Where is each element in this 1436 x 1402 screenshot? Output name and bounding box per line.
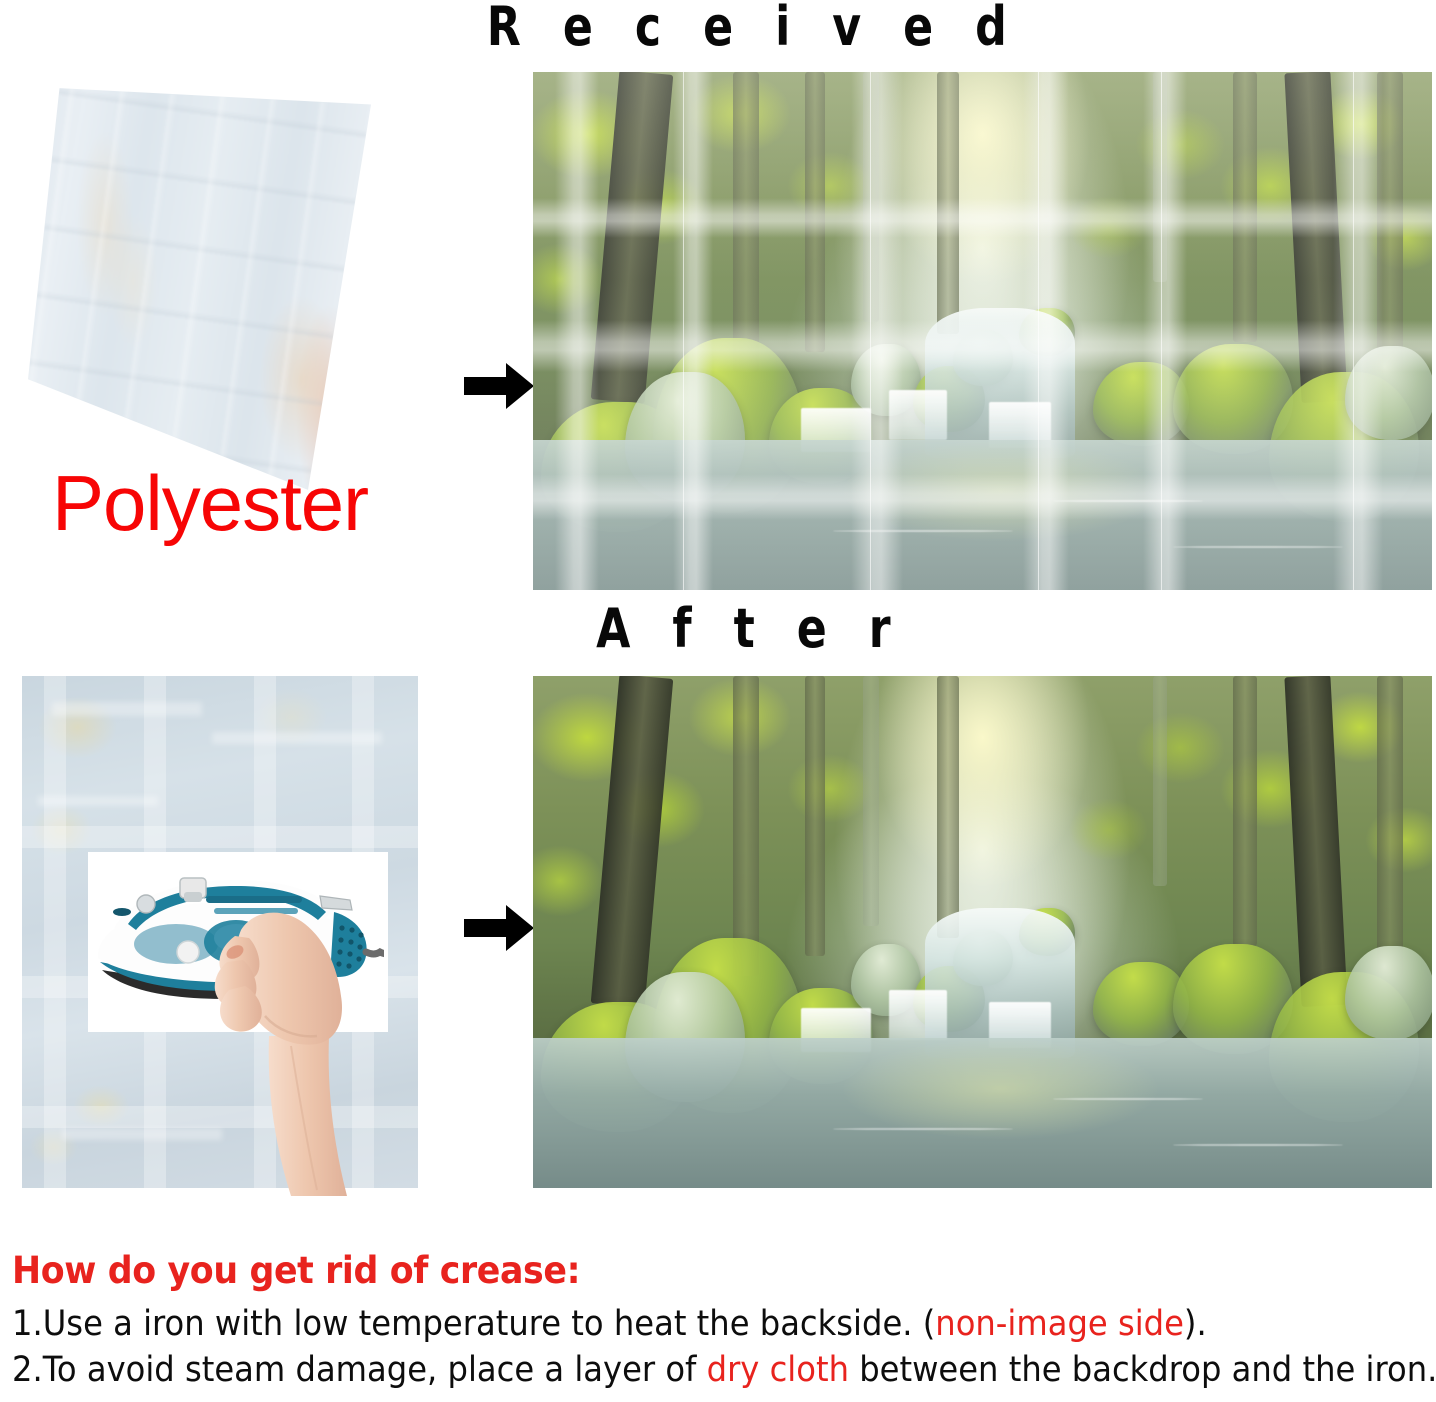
tree-trunk xyxy=(733,676,759,976)
mossy-rock xyxy=(1345,346,1432,440)
tree-trunk xyxy=(805,72,825,352)
tree-trunk xyxy=(937,72,959,334)
instructions-block: How do you get rid of crease: 1.Use a ir… xyxy=(8,1248,1432,1394)
tree-trunk xyxy=(1377,72,1403,372)
water-ripple xyxy=(1053,500,1203,502)
instruction-line-1: 1.Use a iron with low temperature to hea… xyxy=(12,1302,1318,1347)
waterfall xyxy=(889,390,947,440)
tree-trunk xyxy=(863,72,879,322)
instruction-2-prefix: 2.To avoid steam damage, place a layer o… xyxy=(12,1350,707,1390)
tree-trunk xyxy=(1233,72,1257,342)
mossy-rock xyxy=(1345,946,1432,1040)
received-backdrop-image xyxy=(533,72,1432,590)
water-ripple xyxy=(833,1128,1013,1130)
folded-fabric-swatch xyxy=(28,84,378,494)
tree-trunk xyxy=(1153,676,1167,886)
polyester-swatch-figure xyxy=(18,80,428,500)
received-heading: R e c e i v e d xyxy=(487,0,913,56)
waterfall xyxy=(889,990,947,1040)
instruction-line-2: 2.To avoid steam damage, place a layer o… xyxy=(12,1348,1318,1393)
tree-trunk xyxy=(1377,676,1403,976)
instruction-1-highlight: non-image side xyxy=(935,1304,1184,1344)
hand-icon xyxy=(205,896,365,1196)
instructions-heading: How do you get rid of crease: xyxy=(12,1248,1347,1294)
stream-pool xyxy=(533,440,1432,590)
instruction-2-suffix: between the backdrop and the iron. xyxy=(849,1350,1436,1390)
instruction-1-suffix: ). xyxy=(1184,1304,1207,1344)
water-ripple xyxy=(1173,1144,1343,1146)
stream-pool xyxy=(533,1038,1432,1188)
tree-trunk xyxy=(1153,72,1167,282)
tree-trunk xyxy=(805,676,825,956)
instruction-1-prefix: 1.Use a iron with low temperature to hea… xyxy=(12,1304,935,1344)
water-ripple xyxy=(1173,546,1343,548)
arrow-right-icon xyxy=(462,900,536,956)
after-heading: A f t e r xyxy=(594,600,906,658)
arrow-right-icon xyxy=(462,358,536,414)
tree-trunk xyxy=(733,72,759,372)
water-ripple xyxy=(833,530,1013,532)
polyester-material-label: Polyester xyxy=(52,462,368,544)
tree-trunk xyxy=(1233,676,1257,946)
tree-trunk xyxy=(863,676,879,926)
instruction-2-highlight: dry cloth xyxy=(707,1350,849,1390)
tree-trunk xyxy=(937,676,959,938)
after-backdrop-image xyxy=(533,676,1432,1188)
water-ripple xyxy=(1053,1098,1203,1100)
